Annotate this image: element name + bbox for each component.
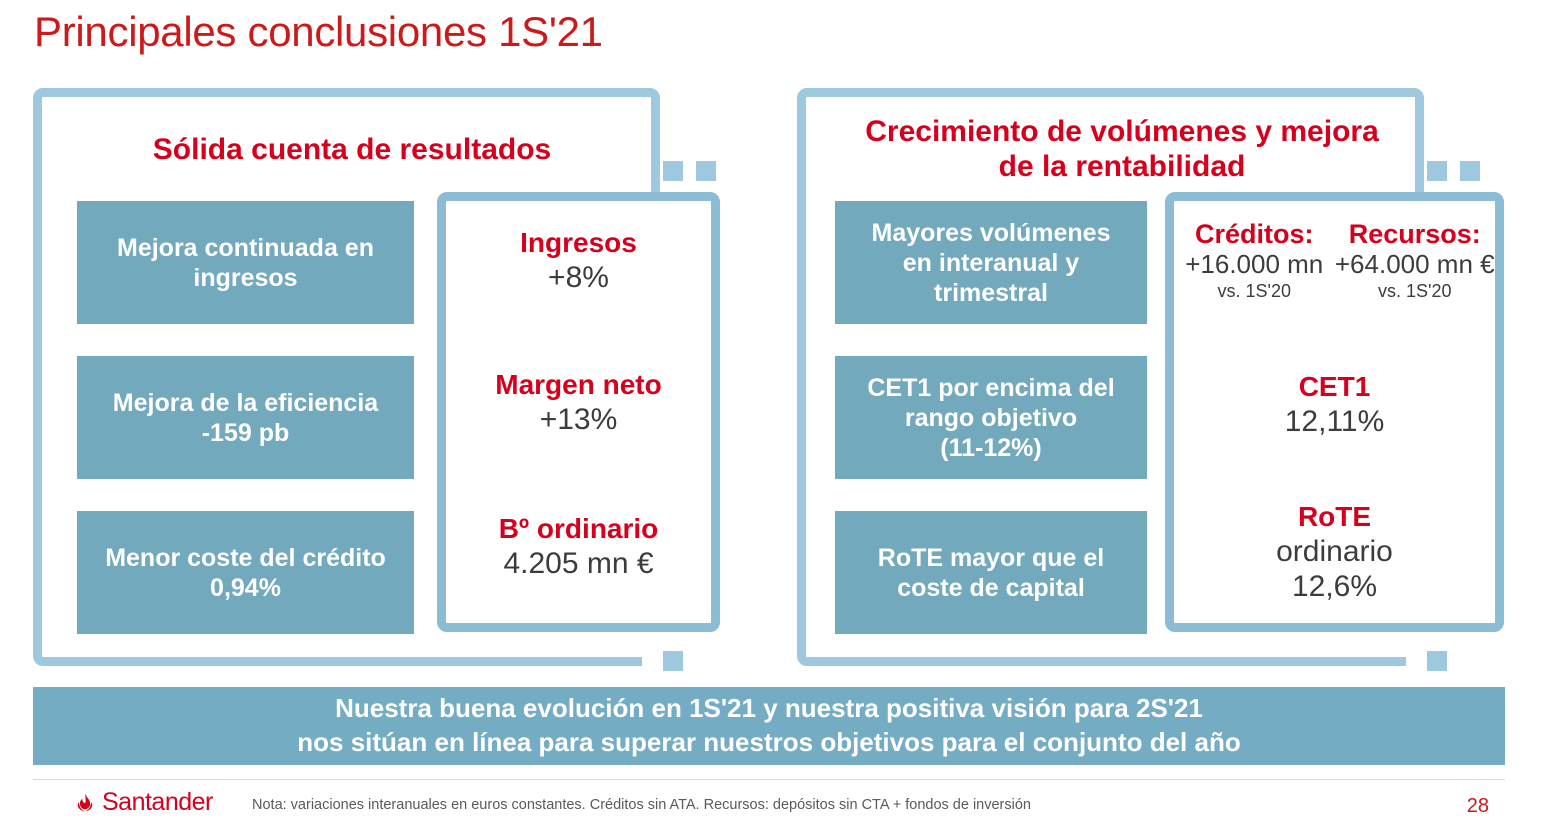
metric-value: +64.000 mn € [1335,250,1496,279]
bullet-line-3: (11-12%) [940,434,1041,462]
metric-label: Bº ordinario [446,513,711,545]
bullet-box-menor-coste-credito: Menor coste del crédito 0,94% [77,511,414,634]
panel-heading-left: Sólida cuenta de resultados [92,132,612,167]
santander-flame-icon [74,792,96,814]
page-number: 28 [1467,795,1489,818]
metric-subtext: vs. 1S'20 [1174,281,1335,301]
decorative-square-icon [663,651,683,671]
bullet-box-mejora-ingresos: Mejora continuada en ingresos [77,201,414,324]
metric-label: Margen neto [446,369,711,401]
bullet-line-1: Mejora continuada en [117,234,374,262]
footer-divider [33,779,1505,780]
metric-label: Ingresos [446,227,711,259]
metric-value-line-2: 12,6% [1174,570,1495,605]
metric-label: RoTE [1174,501,1495,533]
metric-value: +13% [446,403,711,438]
page-title: Principales conclusiones 1S'21 [34,8,603,56]
bullet-line-1: Mayores volúmenes [872,219,1111,247]
metric-cet1: CET1 12,11% [1174,371,1495,440]
decorative-square-icon [1427,651,1447,671]
metric-label: CET1 [1174,371,1495,403]
metric-value-line-1: ordinario [1174,535,1495,570]
slide-root: Principales conclusiones 1S'21 Sólida cu… [0,0,1545,829]
bullet-line-2: rango objetivo [905,404,1077,432]
bullet-box-mejora-eficiencia: Mejora de la eficiencia -159 pb [77,356,414,479]
bullet-line-2: -159 pb [202,419,290,447]
decorative-square-icon [1460,161,1480,181]
banner-line-1: Nuestra buena evolución en 1S'21 y nuest… [335,692,1203,726]
bullet-box-rote-coste-capital: RoTE mayor que el coste de capital [835,511,1147,634]
decorative-square-icon [1427,161,1447,181]
metric-rote-ordinario: RoTE ordinario 12,6% [1174,501,1495,604]
panel-heading-line-1: Crecimiento de volúmenes y mejora [865,115,1379,148]
metrics-card-left: Ingresos +8% Margen neto +13% Bº ordinar… [437,192,720,632]
metric-label: Recursos: [1335,219,1496,249]
metric-beneficio-ordinario: Bº ordinario 4.205 mn € [446,513,711,582]
footer-note: Nota: variaciones interanuales en euros … [252,797,1031,813]
banner-line-2: nos sitúan en línea para superar nuestro… [297,726,1240,760]
bullet-line-2: en interanual y [903,249,1079,277]
bullet-line-1: Mejora de la eficiencia [113,389,378,417]
metric-recursos: Recursos: +64.000 mn € vs. 1S'20 [1335,219,1496,302]
metric-label: Créditos: [1174,219,1335,249]
metric-value: +8% [446,261,711,296]
bullet-line-1: RoTE mayor que el [878,544,1104,572]
metrics-card-right: Créditos: +16.000 mn vs. 1S'20 Recursos:… [1165,192,1504,632]
metric-value: +16.000 mn [1174,250,1335,279]
bullet-box-mayores-volumenes: Mayores volúmenes en interanual y trimes… [835,201,1147,324]
metric-creditos: Créditos: +16.000 mn vs. 1S'20 [1174,219,1335,302]
metric-ingresos: Ingresos +8% [446,227,711,296]
panel-heading-line-2: de la rentabilidad [999,150,1246,183]
decorative-square-icon [696,161,716,181]
panel-heading-right: Crecimiento de volúmenes y mejora de la … [842,114,1402,185]
bullet-line-1: Menor coste del crédito [105,544,386,572]
bullet-line-2: ingresos [193,264,297,292]
metric-value: 12,11% [1174,405,1495,440]
bullet-line-3: trimestral [934,279,1048,307]
metric-value: 4.205 mn € [446,547,711,582]
metric-margen-neto: Margen neto +13% [446,369,711,438]
summary-banner: Nuestra buena evolución en 1S'21 y nuest… [33,687,1505,765]
bullet-box-cet1-rango-objetivo: CET1 por encima del rango objetivo (11-1… [835,356,1147,479]
dual-metric-row: Créditos: +16.000 mn vs. 1S'20 Recursos:… [1174,219,1495,302]
metric-subtext: vs. 1S'20 [1335,281,1496,301]
decorative-square-icon [663,161,683,181]
bullet-line-2: 0,94% [210,574,281,602]
santander-wordmark: Santander [102,790,213,815]
santander-logo: Santander [74,790,213,815]
bullet-line-1: CET1 por encima del [867,374,1114,402]
bullet-line-2: coste de capital [897,574,1085,602]
